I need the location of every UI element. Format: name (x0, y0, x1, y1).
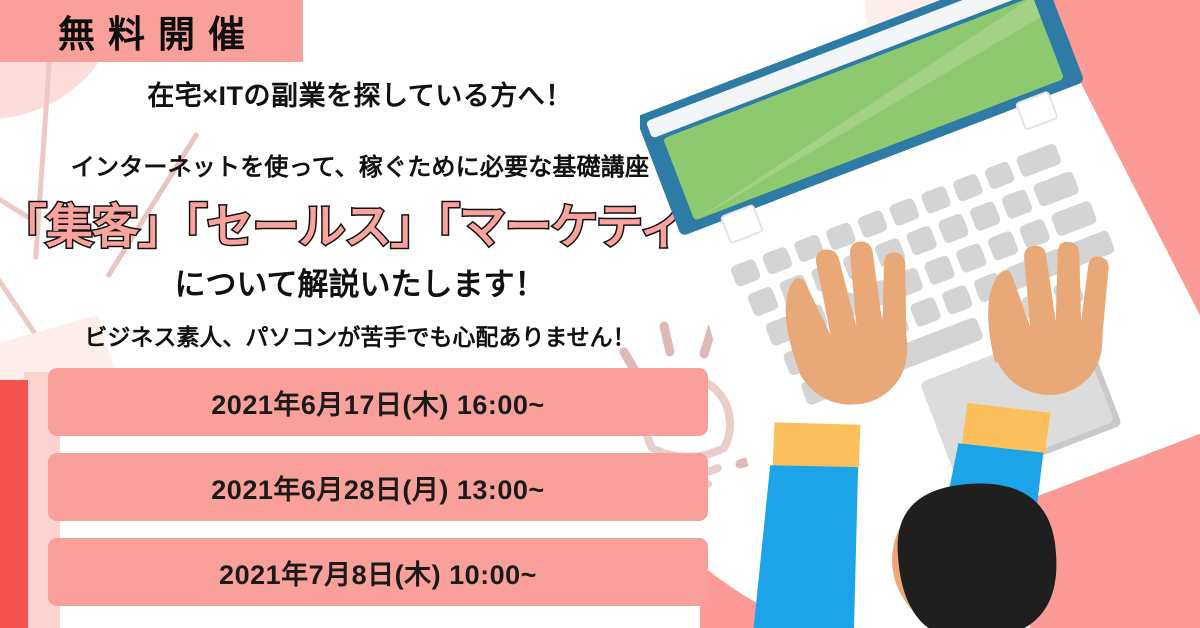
free-event-badge: 無料開催 (0, 0, 303, 62)
hero-headline: 「集客」「セールス」「マーケティング」 (0, 188, 720, 257)
laptop-illustration (640, 0, 1200, 628)
promo-banner: 無料開催 在宅×ITの副業を探している方へ！ インターネットを使って、稼ぐために… (0, 0, 1200, 628)
head (892, 484, 1056, 628)
session-row[interactable]: 2021年6月28日(月) 13:00~ (48, 453, 708, 521)
free-event-badge-label: 無料開催 (45, 4, 258, 58)
session-row[interactable]: 2021年7月8日(木) 10:00~ (48, 538, 708, 606)
copy-block: 在宅×ITの副業を探している方へ！ インターネットを使って、稼ぐために必要な基礎… (0, 74, 720, 352)
left-red-accent-bar (0, 380, 28, 628)
session-label: 2021年6月28日(月) 13:00~ (211, 468, 544, 507)
sub-headline: インターネットを使って、稼ぐために必要な基礎講座 (0, 147, 720, 182)
session-label: 2021年7月8日(木) 10:00~ (219, 553, 537, 592)
reassurance-note: ビジネス素人、パソコンが苦手でも心配ありません！ (0, 318, 720, 352)
lead-headline: 在宅×ITの副業を探している方へ！ (0, 74, 720, 113)
hair (898, 484, 1057, 628)
session-list: 2021年6月17日(木) 16:00~ 2021年6月28日(月) 13:00… (48, 368, 708, 623)
session-row[interactable]: 2021年6月17日(木) 16:00~ (48, 368, 708, 436)
hero-followup-line: について解説いたします！ (0, 259, 720, 304)
session-label: 2021年6月17日(木) 16:00~ (211, 383, 544, 422)
